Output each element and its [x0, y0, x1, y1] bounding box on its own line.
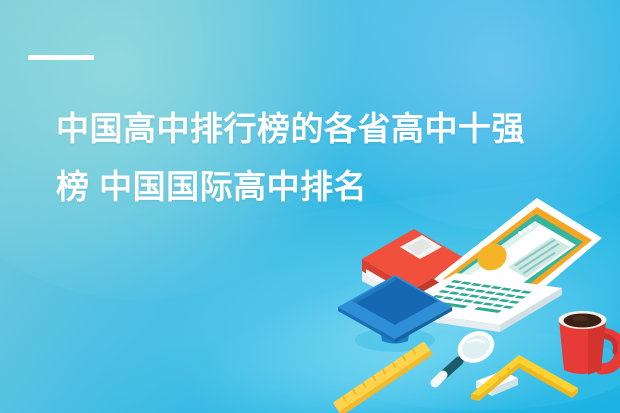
coffee-mug: [559, 311, 620, 375]
promo-banner: 中国高中排行榜的各省高中十强榜 中国国际高中排名: [0, 0, 620, 413]
window-dot: [518, 231, 522, 235]
background-glow-sweep-secondary: [136, 225, 620, 413]
laptop: [392, 198, 602, 332]
magnifying-glass: [435, 325, 500, 383]
set-square: [471, 355, 578, 401]
book-stack: [362, 229, 466, 307]
keyboard-keys: [433, 280, 533, 313]
trackpad: [408, 303, 442, 311]
desk-study-illustration: [330, 185, 620, 413]
page-title: 中国高中排行榜的各省高中十强榜 中国国际高中排名: [56, 100, 556, 216]
window-dot: [528, 225, 532, 229]
scene-ground-shadow: [330, 330, 620, 410]
eraser: [476, 371, 518, 396]
ruler: [333, 341, 433, 413]
decorative-rule: [28, 55, 94, 60]
graduation-cap: [338, 275, 452, 352]
screen-avatar: [473, 239, 511, 276]
window-dot: [523, 228, 527, 232]
